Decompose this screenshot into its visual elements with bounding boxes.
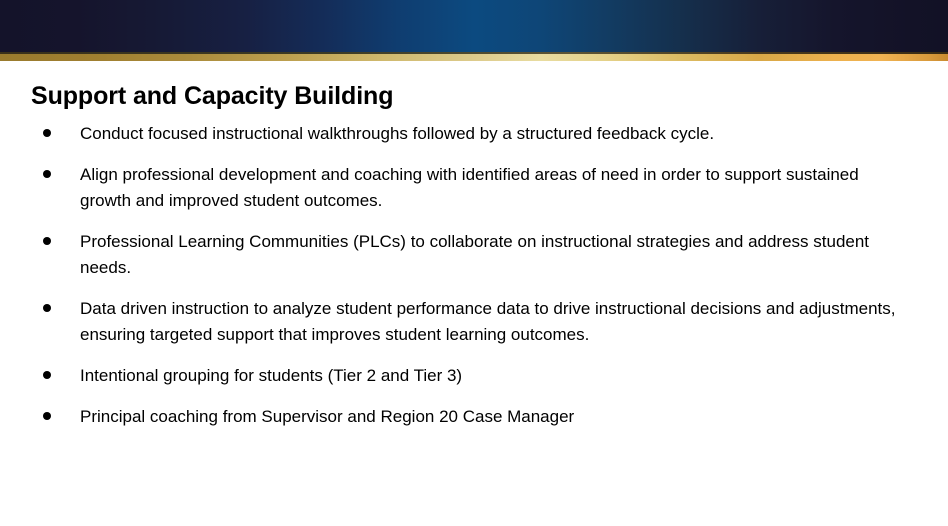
bullet-dot-icon xyxy=(43,129,51,137)
list-item: Intentional grouping for students (Tier … xyxy=(0,363,948,389)
slide-header-banner xyxy=(0,0,948,61)
bullet-dot-icon xyxy=(43,237,51,245)
list-item: Align professional development and coach… xyxy=(0,162,948,214)
bullet-list: Conduct focused instructional walkthroug… xyxy=(0,121,948,430)
list-item-text: Principal coaching from Supervisor and R… xyxy=(80,404,904,430)
list-item-text: Align professional development and coach… xyxy=(80,162,904,214)
header-navy-gradient-band xyxy=(0,0,948,52)
bullet-dot-icon xyxy=(43,170,51,178)
bullet-dot-icon xyxy=(43,371,51,379)
header-gold-accent-stripe xyxy=(0,54,948,61)
bullet-dot-icon xyxy=(43,304,51,312)
slide-body: Support and Capacity Building Conduct fo… xyxy=(0,61,948,435)
page-title: Support and Capacity Building xyxy=(0,61,948,111)
list-item-text: Intentional grouping for students (Tier … xyxy=(80,363,904,389)
list-item: Data driven instruction to analyze stude… xyxy=(0,296,948,348)
list-item-text: Conduct focused instructional walkthroug… xyxy=(80,121,904,147)
list-item-text: Professional Learning Communities (PLCs)… xyxy=(80,229,904,281)
list-item: Professional Learning Communities (PLCs)… xyxy=(0,229,948,281)
list-item-text: Data driven instruction to analyze stude… xyxy=(80,296,904,348)
list-item: Principal coaching from Supervisor and R… xyxy=(0,404,948,430)
bullet-dot-icon xyxy=(43,412,51,420)
list-item: Conduct focused instructional walkthroug… xyxy=(0,121,948,147)
